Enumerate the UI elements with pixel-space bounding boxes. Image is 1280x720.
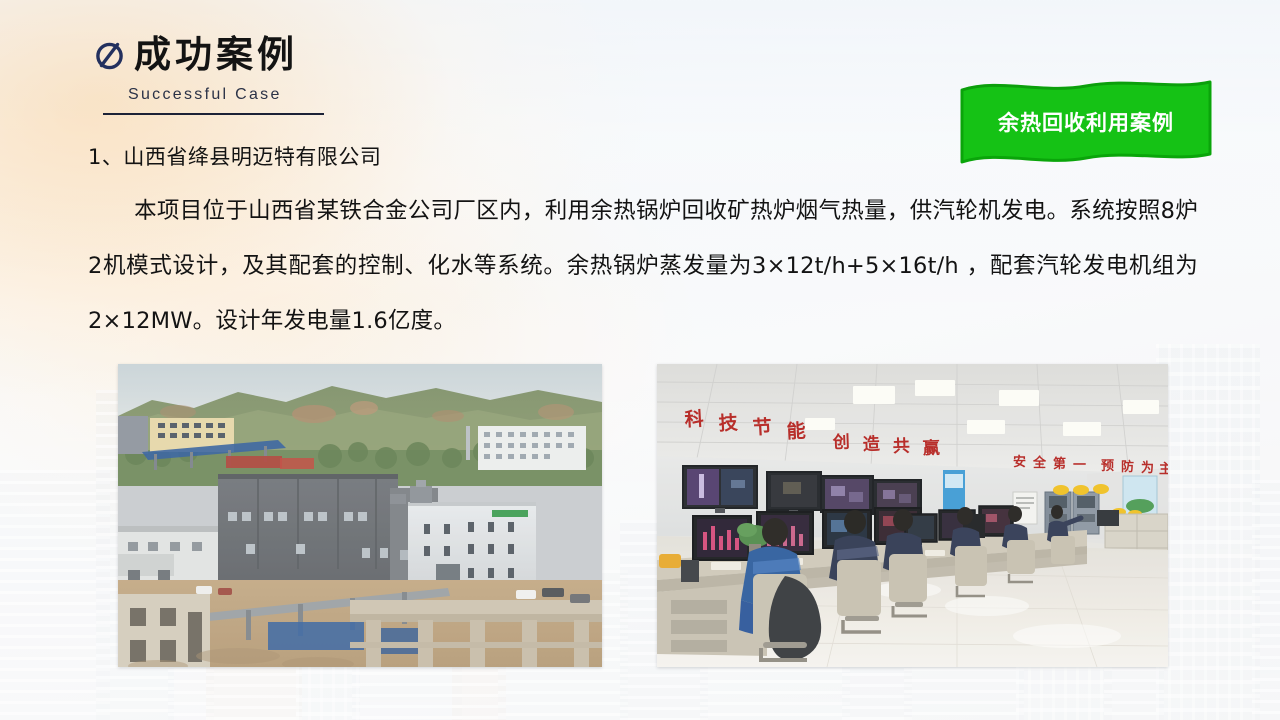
null-slashed-circle-icon bbox=[92, 38, 126, 72]
title-divider bbox=[103, 113, 324, 115]
page-title-block: 成功案例 Successful Case bbox=[92, 36, 324, 115]
content-body: 1、山西省绛县明迈特有限公司 本项目位于山西省某铁合金公司厂区内，利用余热锅炉回… bbox=[88, 142, 1198, 349]
slide: 成功案例 Successful Case 余热回收利用案例 1、山西省绛县明迈特… bbox=[0, 0, 1280, 720]
plant-exterior-photo bbox=[118, 364, 602, 667]
paragraph-text: 本项目位于山西省某铁合金公司厂区内，利用余热锅炉回收矿热炉烟气热量，供汽轮机发电… bbox=[88, 198, 1198, 334]
content-heading: 1、山西省绛县明迈特有限公司 bbox=[88, 142, 1198, 172]
title-row: 成功案例 bbox=[92, 36, 324, 73]
page-title: 成功案例 bbox=[134, 36, 298, 73]
content-paragraph: 本项目位于山西省某铁合金公司厂区内，利用余热锅炉回收矿热炉烟气热量，供汽轮机发电… bbox=[88, 184, 1198, 349]
plant-exterior-illustration bbox=[118, 364, 602, 667]
control-room-illustration: 科 技 节 能 创 造 共 赢 安全 第一 预防 为主 bbox=[657, 364, 1168, 667]
page-subtitle: Successful Case bbox=[128, 86, 324, 104]
control-room-photo: 科 技 节 能 创 造 共 赢 安全 第一 预防 为主 bbox=[657, 364, 1168, 667]
